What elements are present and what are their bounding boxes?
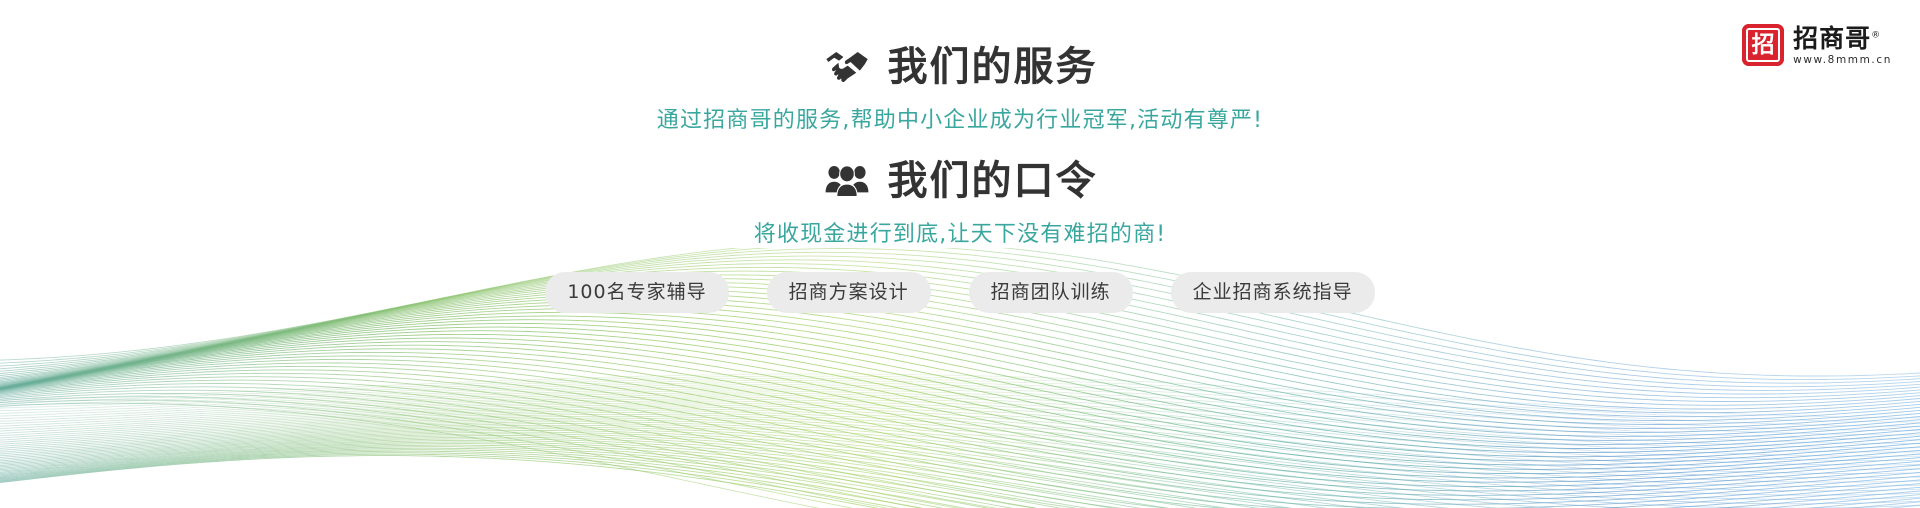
banner-root: 招 招商哥® www.8mmm.cn 我们的服务 通过招商哥的服务,帮助中小企业… [0,0,1920,508]
banner-content: 我们的服务 通过招商哥的服务,帮助中小企业成为行业冠军,活动有尊严! 我们的口令 [0,0,1920,313]
section-subtitle-services: 通过招商哥的服务,帮助中小企业成为行业冠军,活动有尊严! [0,110,1920,132]
logo-mark-char: 招 [1752,34,1775,57]
logo-text-block: 招商哥® www.8mmm.cn [1793,25,1892,66]
logo-brand-name: 招商哥® [1793,25,1892,52]
tag-list: 100名专家辅导 招商方案设计 招商团队训练 企业招商系统指导 [0,272,1920,313]
brand-logo[interactable]: 招 招商哥® www.8mmm.cn [1742,24,1892,66]
tag-pill[interactable]: 企业招商系统指导 [1171,272,1375,313]
logo-website-url: www.8mmm.cn [1793,54,1892,66]
section-title-text: 我们的服务 [888,47,1098,87]
handshake-icon [823,46,871,88]
tag-pill[interactable]: 100名专家辅导 [545,272,728,313]
users-group-icon [823,160,871,202]
spacer [0,132,1920,160]
logo-mark-icon: 招 [1742,24,1784,66]
section-heading-slogan: 我们的口令 [0,160,1920,202]
section-title-text: 我们的口令 [888,161,1098,201]
section-heading-services: 我们的服务 [0,46,1920,88]
tag-pill[interactable]: 招商方案设计 [767,272,931,313]
registered-mark: ® [1871,30,1881,40]
section-subtitle-slogan: 将收现金进行到底,让天下没有难招的商! [0,224,1920,246]
tag-pill[interactable]: 招商团队训练 [969,272,1133,313]
